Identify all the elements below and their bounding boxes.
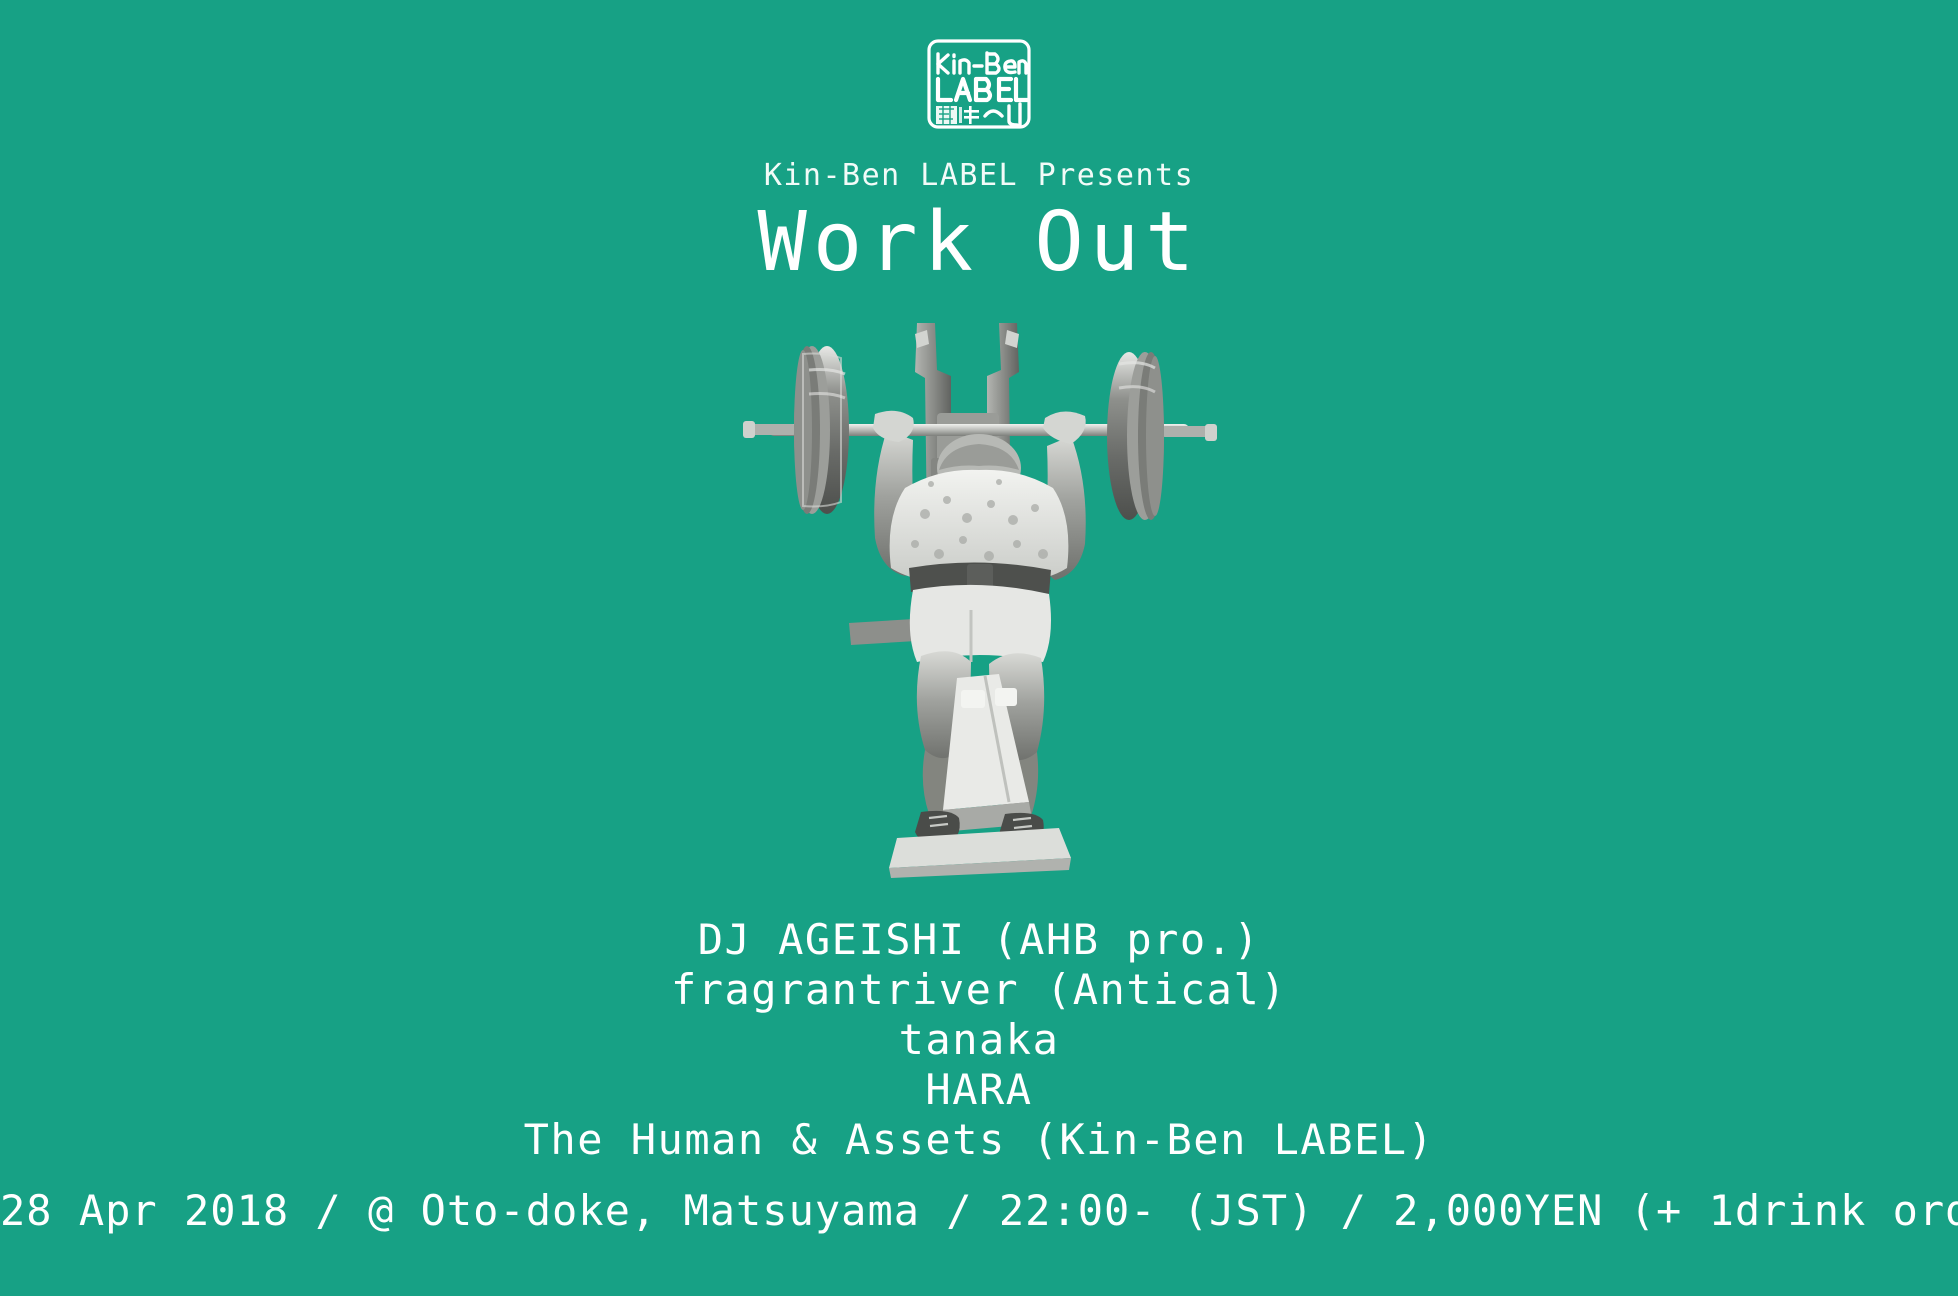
bench-press-photo bbox=[699, 318, 1259, 878]
kin-ben-label-logo bbox=[923, 36, 1035, 132]
lineup-item: fragrantriver (Antical) bbox=[0, 965, 1958, 1015]
event-details-line: 28 Apr 2018 / @ Oto-doke, Matsuyama / 22… bbox=[0, 1186, 1958, 1235]
page-title: Work Out bbox=[0, 196, 1958, 290]
event-flyer: Kin-Ben LABEL Presents Work Out bbox=[0, 0, 1958, 1296]
lineup-list: DJ AGEISHI (AHB pro.) fragrantriver (Ant… bbox=[0, 915, 1958, 1165]
lineup-item: tanaka bbox=[0, 1015, 1958, 1065]
presents-line: Kin-Ben LABEL Presents bbox=[0, 158, 1958, 193]
lineup-item: The Human & Assets (Kin-Ben LABEL) bbox=[0, 1115, 1958, 1165]
lineup-item: HARA bbox=[0, 1065, 1958, 1115]
lineup-item: DJ AGEISHI (AHB pro.) bbox=[0, 915, 1958, 965]
